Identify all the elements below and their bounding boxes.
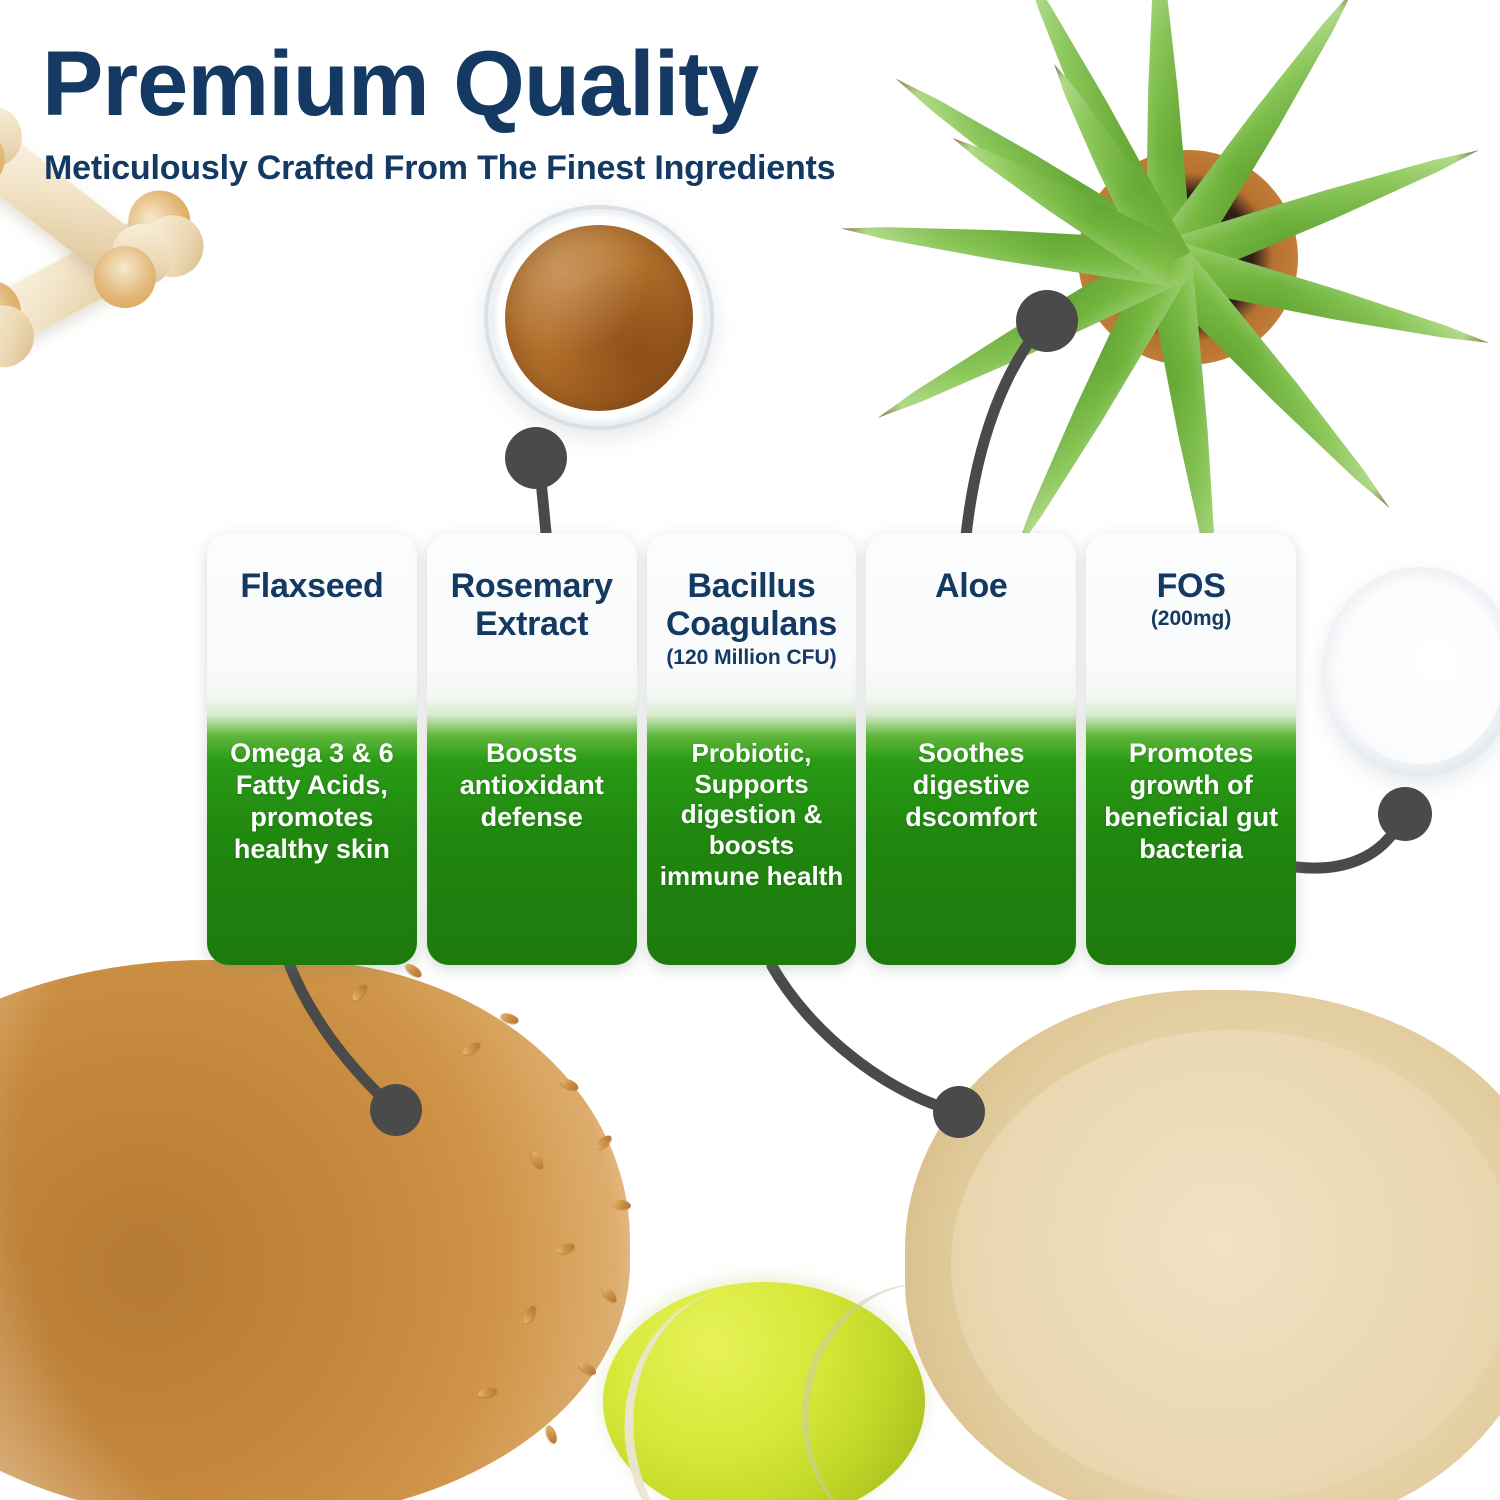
card-title: Flaxseed — [232, 567, 391, 605]
connector-dot-white-powder — [1378, 787, 1432, 841]
connector-dot-aloe-plant — [1016, 290, 1078, 352]
connector-bacillus-to-beige-powder-line — [772, 966, 955, 1111]
ingredient-card-flaxseed[interactable]: Flaxseed Omega 3 & 6 Fatty Acids, promot… — [207, 533, 417, 965]
card-subtitle: (120 Million CFU) — [660, 646, 842, 669]
ingredient-card-bacillus-coagulans[interactable]: Bacillus Coagulans (120 Million CFU) Pro… — [647, 533, 857, 965]
card-title: Aloe — [927, 567, 1015, 605]
card-subtitle: (200mg) — [1145, 607, 1238, 630]
card-title: FOS — [1149, 567, 1234, 605]
ingredient-card-rosemary-extract[interactable]: Rosemary Extract Boosts antioxidant defe… — [427, 533, 637, 965]
card-benefit-text: Probiotic, Supports digestion & boosts i… — [647, 738, 857, 891]
connector-flaxseed-to-grains-line — [290, 966, 393, 1108]
connector-dot-grains — [370, 1084, 422, 1136]
card-title: Rosemary Extract — [427, 567, 637, 644]
connector-dot-brown-powder — [505, 427, 567, 489]
ingredient-card-row: Flaxseed Omega 3 & 6 Fatty Acids, promot… — [207, 533, 1296, 965]
infographic-canvas: Premium Quality Meticulously Crafted Fro… — [0, 0, 1500, 1500]
ingredient-card-aloe[interactable]: Aloe Soothes digestive dscomfort — [866, 533, 1076, 965]
card-benefit-text: Omega 3 & 6 Fatty Acids, promotes health… — [207, 738, 417, 865]
card-title: Bacillus Coagulans — [647, 567, 857, 644]
ingredient-card-fos[interactable]: FOS (200mg) Promotes growth of beneficia… — [1086, 533, 1296, 965]
card-benefit-text: Soothes digestive dscomfort — [866, 738, 1076, 834]
card-benefit-text: Boosts antioxidant defense — [427, 738, 637, 834]
connector-dot-beige-powder — [933, 1086, 985, 1138]
card-benefit-text: Promotes growth of beneficial gut bacter… — [1086, 738, 1296, 865]
